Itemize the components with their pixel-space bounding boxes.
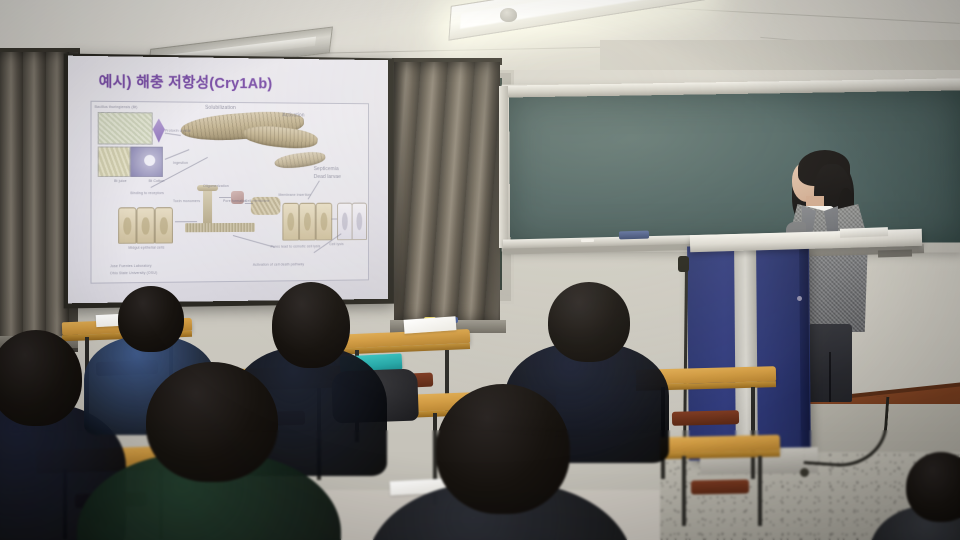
student-head [0,330,82,426]
midgut-cell [118,207,136,244]
student-head [436,384,570,514]
flow-arrow [165,133,181,136]
podium-shelf-bracket [878,250,912,258]
diagram-label: Toxin monomers [173,199,200,203]
diagram-label: Bt Cotton [149,179,165,183]
podium-latch-icon[interactable] [797,296,802,301]
micrograph-bt-bacteria [98,112,153,145]
student-head [906,452,960,522]
diagram-label: Activation of cell death pathway [253,262,304,266]
student-far-right-edge [906,452,960,540]
diagram-label: Bacillus thuringiensis (Bt) [95,105,138,109]
student-head [272,282,350,368]
diagram-label: Cell membrane [245,199,270,203]
diagram-label: Protoxin crystal [165,129,191,133]
diagram-label: Solubilization [205,105,236,111]
diagram-label: Binding to receptors [130,191,164,195]
desk-leg [758,456,762,526]
chalkboard-edge [499,86,508,248]
flow-arrow [331,219,337,220]
student-head [146,362,278,482]
diagram-label: Cell lysis [329,242,343,246]
midgut-cell [155,207,173,243]
flow-arrow [175,221,197,222]
caster-icon [800,468,809,477]
chalkboard[interactable] [509,89,960,245]
diagram-label: Activation [282,112,304,118]
diagram-label: Membrane insertion [278,193,310,197]
smoke-detector-icon [500,8,517,22]
epithelial-cell [316,203,333,241]
laptop-icon[interactable] [840,227,888,238]
micrograph-bt-juice [98,146,131,176]
diagram-label: Pore formation [223,199,247,203]
toxin-monomer-icon [203,189,212,225]
diagram-labels: Bacillus thuringiensis (Bt)Solubilizatio… [92,102,368,104]
diagram-label: Oligomerization [203,184,229,188]
epithelial-cell [299,203,316,241]
eraser-icon[interactable] [619,231,649,240]
flow-arrow [245,203,253,204]
flow-arrow [165,149,190,159]
epithelial-cell [282,203,299,241]
lecture-hall-photo: 예시) 해충 저항성(Cry1Ab) [0,0,960,540]
lysed-cell [352,203,367,241]
student-head [118,286,184,352]
protoxin-crystal-icon [153,118,165,142]
student-head [548,282,630,362]
diagram-label: Bt juice [114,179,127,183]
student-front-right [436,384,650,540]
projection-screen: 예시) 해충 저항성(Cry1Ab) [68,56,388,304]
flow-arrow [219,197,231,198]
chalk-icon[interactable] [581,239,594,242]
student-green-hoodie [146,362,358,540]
slide-title: 예시) 해충 저항성(Cry1Ab) [99,70,273,93]
diagram-label: Pores lead to osmotic cell lysis [271,244,321,248]
larva-illustration-tail [242,123,318,151]
diagram-label: Ohio State University (OSU) [110,271,157,276]
diagram-label: Ingestion [173,161,188,165]
micrograph-bt-cotton [130,147,162,177]
diagram-label: Dead larvae [314,174,341,180]
cell-membrane-icon [185,223,255,232]
slide-diagram: Bacillus thuringiensis (Bt)Solubilizatio… [90,101,368,284]
diagram-label: Jose Fuentes Laboratory [110,264,152,268]
larva-segments [242,123,318,151]
diagram-label: Septicemia [314,166,339,172]
microphone-icon[interactable] [678,256,689,272]
diagram-label: Midgut epithelial cells [128,246,164,250]
desk-leg [751,387,755,479]
midgut-cell [136,207,154,243]
flow-arrow [233,235,275,247]
